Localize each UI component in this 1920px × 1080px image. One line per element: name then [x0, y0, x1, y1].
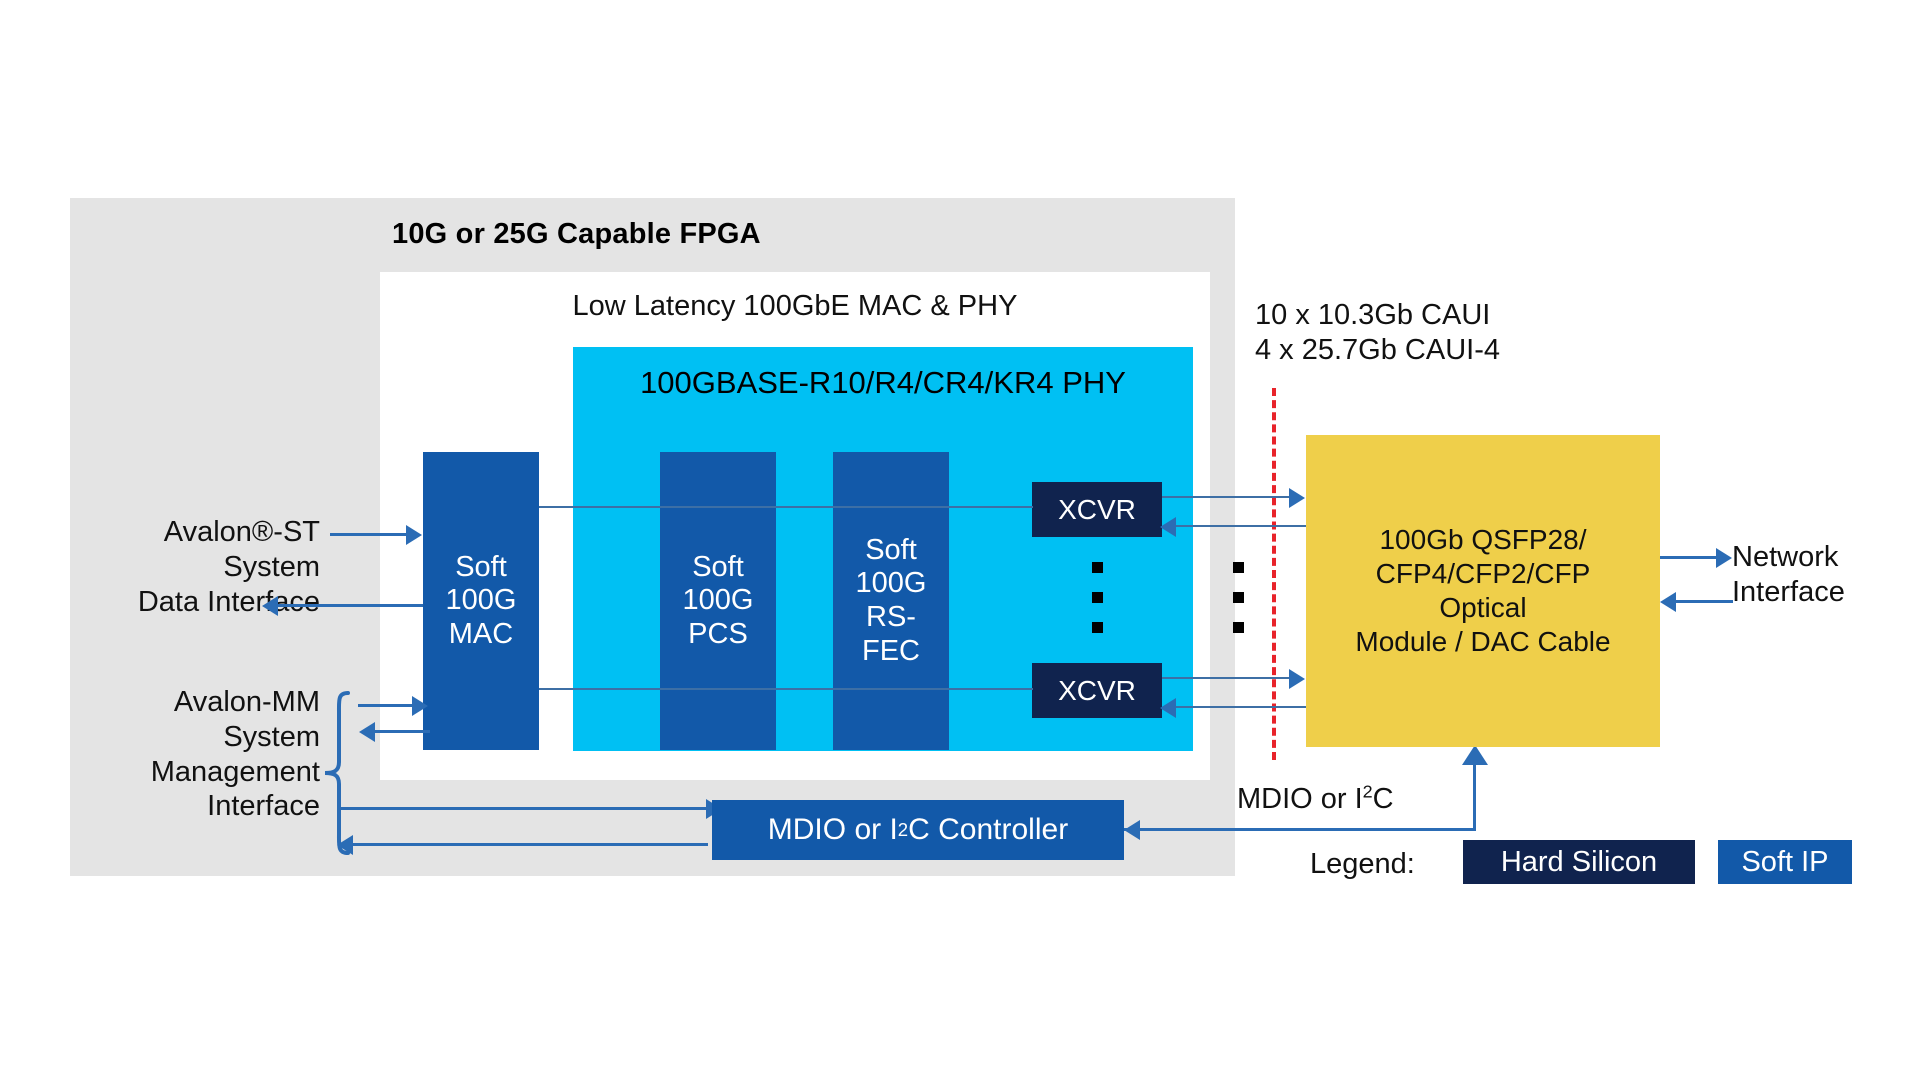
mdio-controller-text-prefix: MDIO or I — [768, 813, 898, 847]
pcs-line-1: Soft — [683, 551, 754, 585]
rsfec-line-3: RS- — [856, 601, 927, 635]
mdio-ctrl-read-line — [352, 843, 708, 846]
network-tx-line — [1660, 556, 1718, 559]
network-rx-line — [1675, 600, 1733, 603]
ellipsis-dot-left-1 — [1092, 562, 1103, 573]
mdio-i2c-controller-block[interactable]: MDIO or I2C Controller — [712, 800, 1124, 860]
avalon-st-tx-arrowhead — [406, 525, 422, 545]
mdio-module-arrowhead-left — [1124, 820, 1140, 840]
avalon-mm-line-2: System — [60, 720, 320, 755]
avalon-st-line-1: Avalon®-ST — [70, 515, 320, 550]
avalon-st-line-3: Data Interface — [70, 585, 320, 620]
xcvr-bottom-rx-arrowhead — [1160, 698, 1176, 718]
network-interface-label: Network Interface — [1732, 540, 1920, 610]
legend-hard-silicon-label: Hard Silicon — [1501, 846, 1657, 879]
xcvr-top-tx-arrowhead — [1289, 488, 1305, 508]
module-line-1: 100Gb QSFP28/ — [1355, 523, 1610, 557]
caui-line-2: 4 x 25.7Gb CAUI-4 — [1255, 333, 1635, 368]
network-line-1: Network — [1732, 540, 1920, 575]
mdio-module-line-h — [1124, 828, 1476, 831]
avalon-mm-read-line — [374, 730, 430, 733]
module-line-2: CFP4/CFP2/CFP — [1355, 557, 1610, 591]
avalon-mm-line-3: Management — [60, 755, 320, 790]
mdio-link-text-prefix: MDIO or I — [1237, 783, 1363, 815]
network-tx-arrowhead — [1716, 548, 1732, 568]
legend-label: Legend: — [1310, 848, 1470, 881]
rsfec-line-2: 100G — [856, 567, 927, 601]
avalon-mm-write-arrowhead — [412, 696, 428, 716]
caui-line-1: 10 x 10.3Gb CAUI — [1255, 298, 1635, 333]
module-line-4: Module / DAC Cable — [1355, 625, 1610, 659]
legend-soft-ip-label: Soft IP — [1741, 846, 1828, 879]
xcvr-bottom-tx-line — [1162, 677, 1290, 679]
mac-line-2: 100G — [446, 584, 517, 618]
xcvr-top-rx-arrowhead — [1160, 517, 1176, 537]
mac-line-1: Soft — [446, 551, 517, 585]
soft-100g-rsfec-block[interactable]: Soft 100G RS- FEC — [833, 452, 949, 750]
xcvr-bottom-block[interactable]: XCVR — [1032, 663, 1162, 718]
avalon-mm-write-line — [358, 704, 414, 707]
xcvr-top-tx-line — [1162, 496, 1290, 498]
soft-100g-mac-block[interactable]: Soft 100G MAC — [423, 452, 539, 750]
avalon-st-line-2: System — [70, 550, 320, 585]
ellipsis-dot-right-3 — [1233, 622, 1244, 633]
legend-soft-ip-chip: Soft IP — [1718, 840, 1852, 884]
chip-boundary-divider — [1272, 388, 1276, 760]
phy-title: 100GBASE-R10/R4/CR4/KR4 PHY — [573, 365, 1193, 401]
mdio-controller-text-suffix: C Controller — [908, 813, 1068, 847]
mac-phy-title: Low Latency 100GbE MAC & PHY — [380, 290, 1210, 323]
xcvr-top-label: XCVR — [1058, 494, 1136, 526]
ellipsis-dot-left-3 — [1092, 622, 1103, 633]
mdio-link-text-suffix: C — [1373, 783, 1394, 815]
network-rx-arrowhead — [1660, 592, 1676, 612]
avalon-st-tx-line — [330, 533, 408, 536]
soft-100g-pcs-block[interactable]: Soft 100G PCS — [660, 452, 776, 750]
rsfec-line-1: Soft — [856, 534, 927, 568]
mdio-link-text-sup: 2 — [1363, 781, 1373, 801]
mdio-i2c-link-label: MDIO or I2C — [1237, 782, 1537, 817]
optical-module-block[interactable]: 100Gb QSFP28/ CFP4/CFP2/CFP Optical Modu… — [1306, 435, 1660, 747]
mdio-module-arrowhead-up — [1462, 745, 1488, 767]
mdio-ctrl-write-line — [338, 807, 708, 810]
rsfec-line-4: FEC — [856, 635, 927, 669]
xcvr-bottom-rx-line — [1175, 706, 1306, 708]
avalon-st-rx-arrowhead — [262, 596, 278, 616]
datapath-line-bottom — [539, 688, 1033, 690]
diagram-canvas: 10G or 25G Capable FPGA Low Latency 100G… — [0, 0, 1920, 1080]
avalon-mm-line-1: Avalon-MM — [60, 685, 320, 720]
network-line-2: Interface — [1732, 575, 1920, 610]
xcvr-bottom-label: XCVR — [1058, 675, 1136, 707]
xcvr-top-block[interactable]: XCVR — [1032, 482, 1162, 537]
xcvr-bottom-tx-arrowhead — [1289, 669, 1305, 689]
avalon-mm-read-arrowhead — [359, 722, 375, 742]
avalon-mm-interface-label: Avalon-MM System Management Interface — [60, 685, 320, 824]
avalon-mm-brace — [318, 690, 352, 856]
pcs-line-2: 100G — [683, 584, 754, 618]
module-line-3: Optical — [1355, 591, 1610, 625]
ellipsis-dot-right-2 — [1233, 592, 1244, 603]
mdio-ctrl-read-arrowhead — [337, 835, 353, 855]
ellipsis-dot-right-1 — [1233, 562, 1244, 573]
legend-hard-silicon-chip: Hard Silicon — [1463, 840, 1695, 884]
datapath-line-top — [539, 506, 1033, 508]
avalon-st-rx-line — [277, 604, 423, 607]
caui-rate-label: 10 x 10.3Gb CAUI 4 x 25.7Gb CAUI-4 — [1255, 298, 1635, 368]
mac-line-3: MAC — [446, 618, 517, 652]
pcs-line-3: PCS — [683, 618, 754, 652]
ellipsis-dot-left-2 — [1092, 592, 1103, 603]
xcvr-top-rx-line — [1175, 525, 1306, 527]
fpga-title: 10G or 25G Capable FPGA — [392, 218, 992, 251]
avalon-mm-line-4: Interface — [60, 789, 320, 824]
